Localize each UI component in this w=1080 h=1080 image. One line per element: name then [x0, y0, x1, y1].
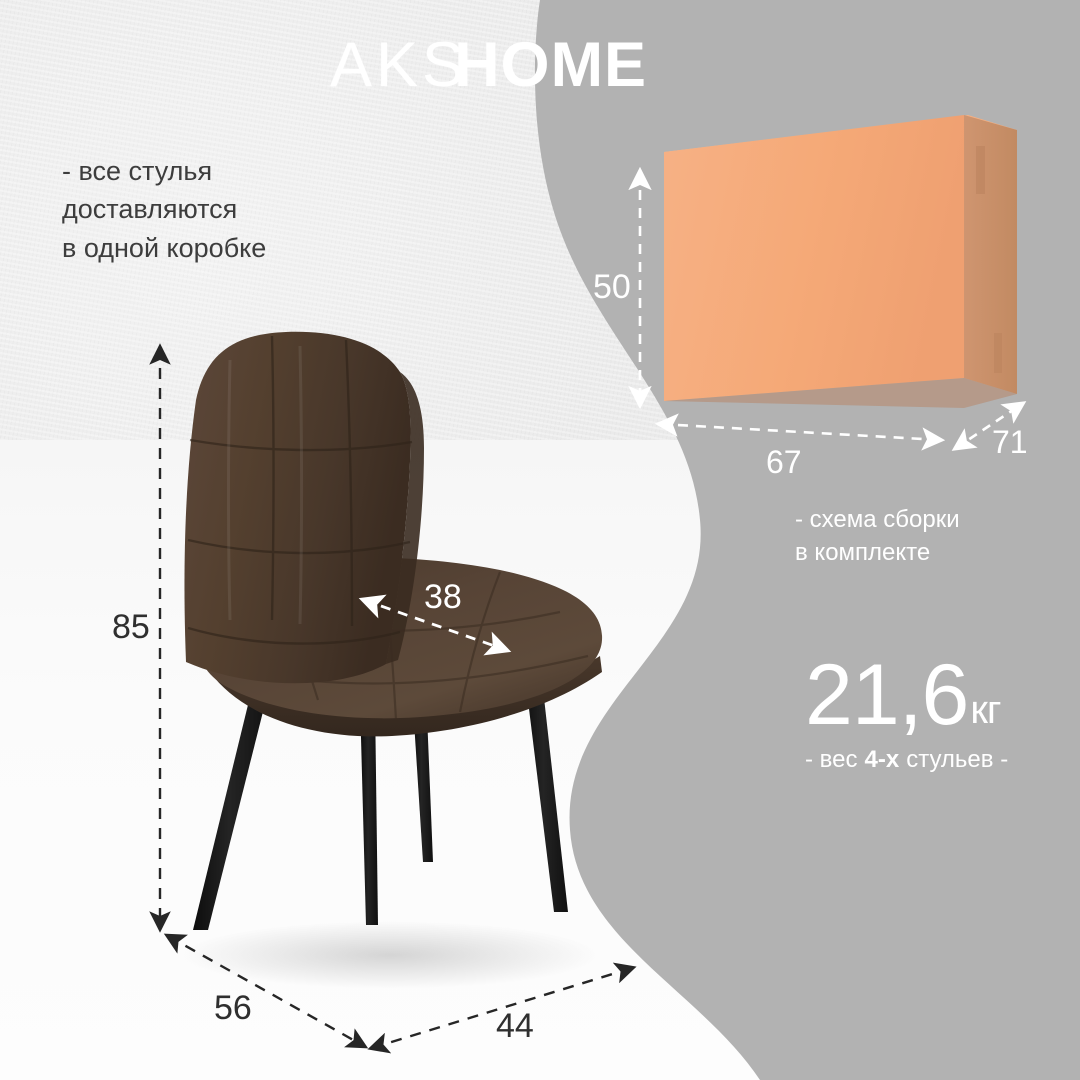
- logo-text-aks: AKS: [330, 34, 468, 97]
- label-chair-width: 44: [496, 1007, 534, 1046]
- infographic-canvas: AKS HOME: [0, 0, 1080, 1080]
- weight-value-row: 21,6 кг: [805, 655, 1008, 737]
- label-box-height: 50: [593, 268, 631, 307]
- label-seat-depth: 38: [424, 578, 462, 617]
- label-box-width: 67: [766, 444, 802, 481]
- weight-block: 21,6 кг - вес 4-х стульев -: [805, 655, 1008, 774]
- brand-logo: AKS HOME: [330, 34, 647, 97]
- note-delivery: - все стулья доставляются в одной коробк…: [62, 152, 266, 267]
- weight-caption-prefix: - вес: [805, 746, 858, 774]
- weight-unit: кг: [970, 690, 1000, 737]
- weight-caption: - вес 4-х стульев -: [805, 746, 1008, 774]
- logo-text-home: HOME: [454, 34, 647, 97]
- label-chair-side-depth: 56: [214, 989, 252, 1028]
- label-box-depth: 71: [992, 424, 1028, 461]
- weight-caption-suffix: стульев -: [906, 746, 1008, 774]
- weight-value: 21,6: [805, 655, 968, 737]
- weight-caption-count: 4-х: [865, 746, 900, 774]
- note-assembly: - схема сборки в комплекте: [795, 503, 960, 569]
- label-chair-height: 85: [112, 608, 150, 647]
- product-photo-backdrop: [0, 440, 760, 1080]
